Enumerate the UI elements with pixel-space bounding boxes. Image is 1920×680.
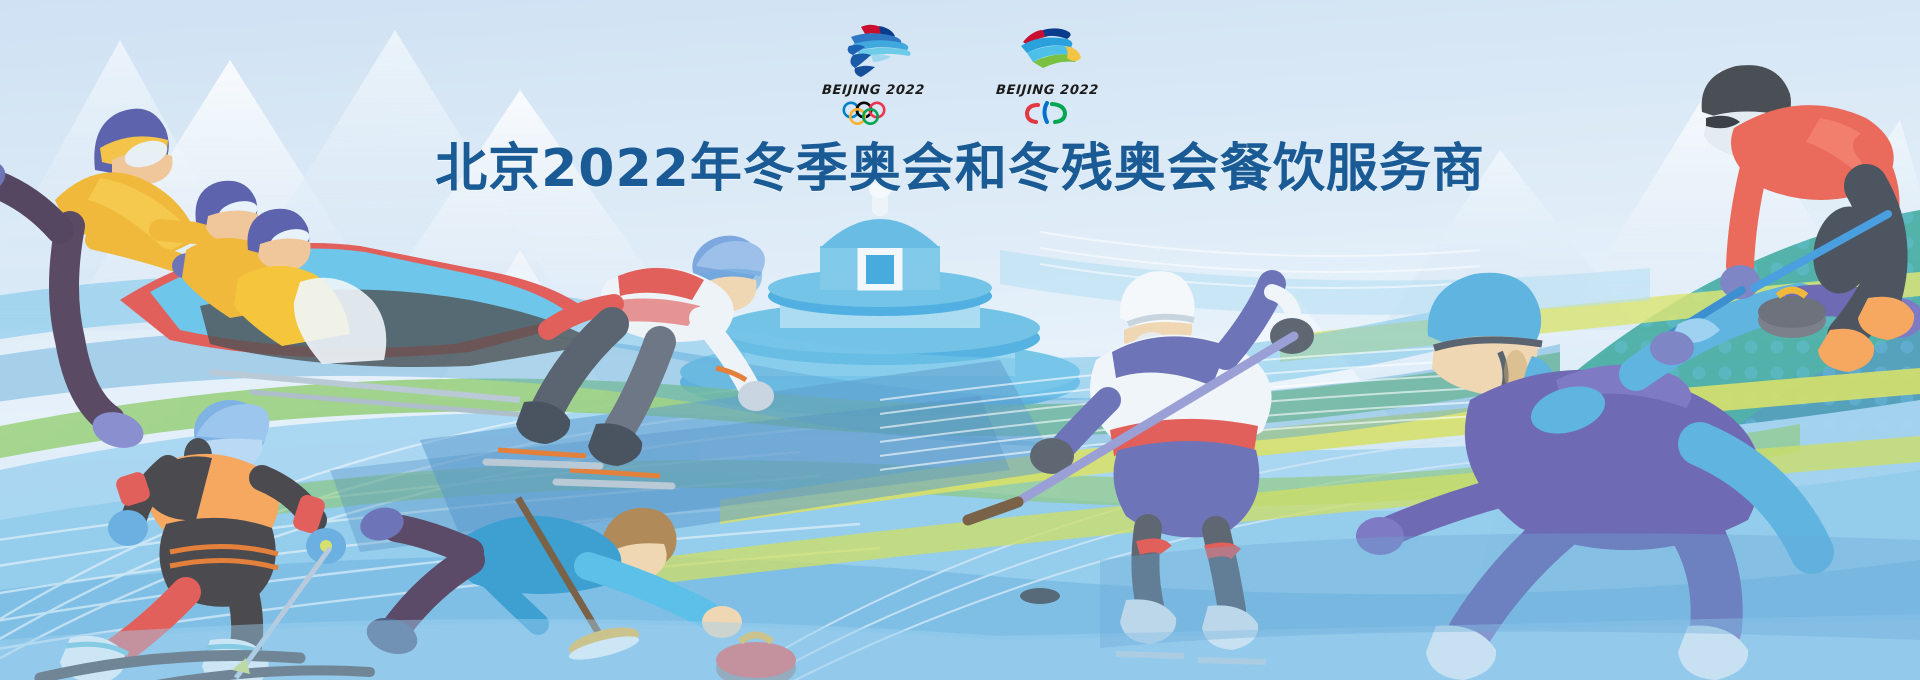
beijing-2022-banner: BEIJING 2022 bbox=[0, 0, 1920, 680]
foreground-gloss bbox=[0, 0, 1920, 680]
